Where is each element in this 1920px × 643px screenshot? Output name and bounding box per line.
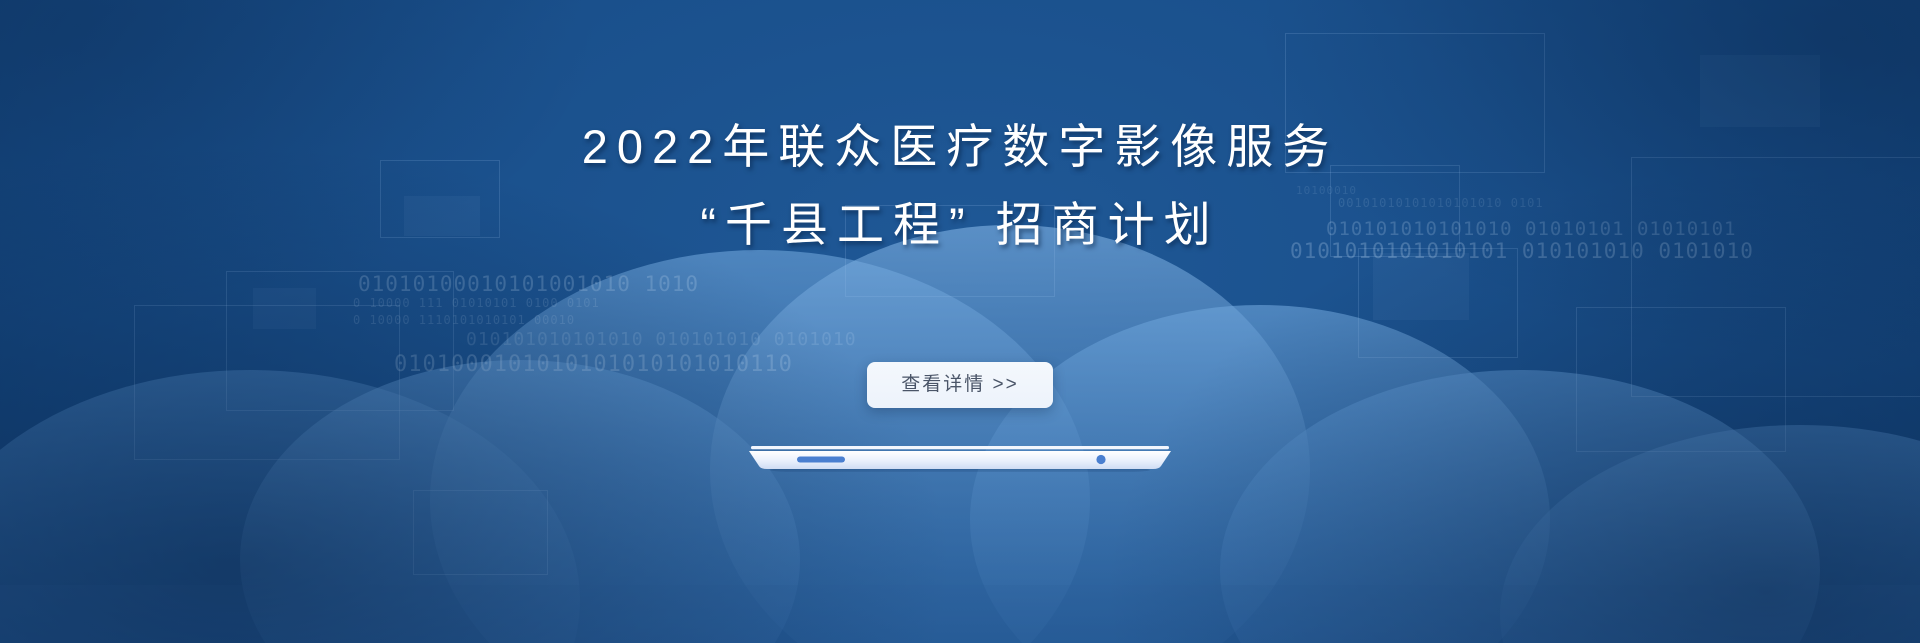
binary-line: 010101010101010 010101010 0101010 [466,329,857,350]
binary-line: 0 10000 111 01010101 0100 0101 [353,296,600,310]
filled-rectangle [253,288,316,329]
outlined-rectangle [413,490,548,575]
headline-line-2: “千县工程” 招商计划 [0,186,1920,264]
decorative-rectangles [0,0,1920,643]
binary-line: 0 10000 1110101010101 00010 [353,313,575,327]
page-title: 2022年联众医疗数字影像服务 “千县工程” 招商计划 [0,108,1920,264]
vignette-overlay [0,0,1920,643]
laptop-base [749,446,1171,472]
cloud-shape [0,0,1920,643]
promo-banner: 01010100010101001010 1010 0 10000 111 01… [0,0,1920,643]
headline-line-1: 2022年联众医疗数字影像服务 [0,108,1920,186]
cta-container: 查看详情 >> [0,362,1920,408]
outlined-rectangle [1358,248,1518,358]
binary-line: 01010100010101001010 1010 [358,272,699,296]
view-details-button[interactable]: 查看详情 >> [867,362,1052,408]
